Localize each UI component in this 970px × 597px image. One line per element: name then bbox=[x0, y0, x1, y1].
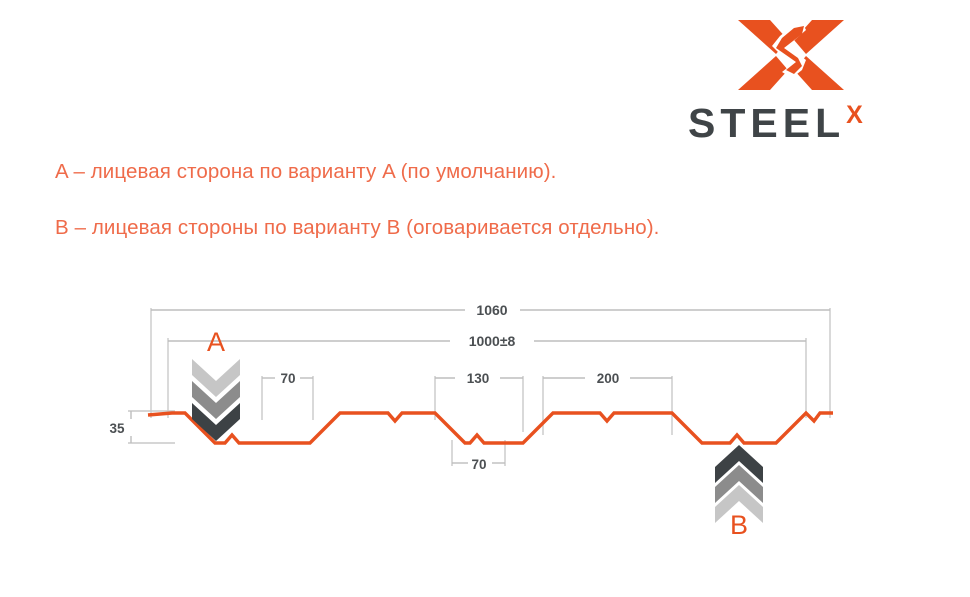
dim-label-rib-pitch-wide: 200 bbox=[597, 371, 620, 386]
dim-label-valley-width: 70 bbox=[471, 457, 486, 472]
dim-label-cover-width: 1000±8 bbox=[469, 333, 516, 349]
face-marker-b: B bbox=[715, 445, 763, 540]
face-marker-a: A bbox=[192, 327, 240, 441]
sheet-profile-polyline bbox=[148, 413, 833, 443]
face-marker-b-label: B bbox=[730, 510, 748, 540]
dim-label-profile-height: 35 bbox=[109, 421, 125, 436]
dim-label-rib-top-width: 70 bbox=[280, 371, 295, 386]
dim-label-rib-pitch-mid: 130 bbox=[467, 371, 490, 386]
dim-label-overall-width: 1060 bbox=[476, 302, 507, 318]
profile-technical-drawing: 1060 1000±8 70 130 200 70 35 A B bbox=[0, 0, 970, 597]
face-marker-a-label: A bbox=[207, 327, 225, 357]
